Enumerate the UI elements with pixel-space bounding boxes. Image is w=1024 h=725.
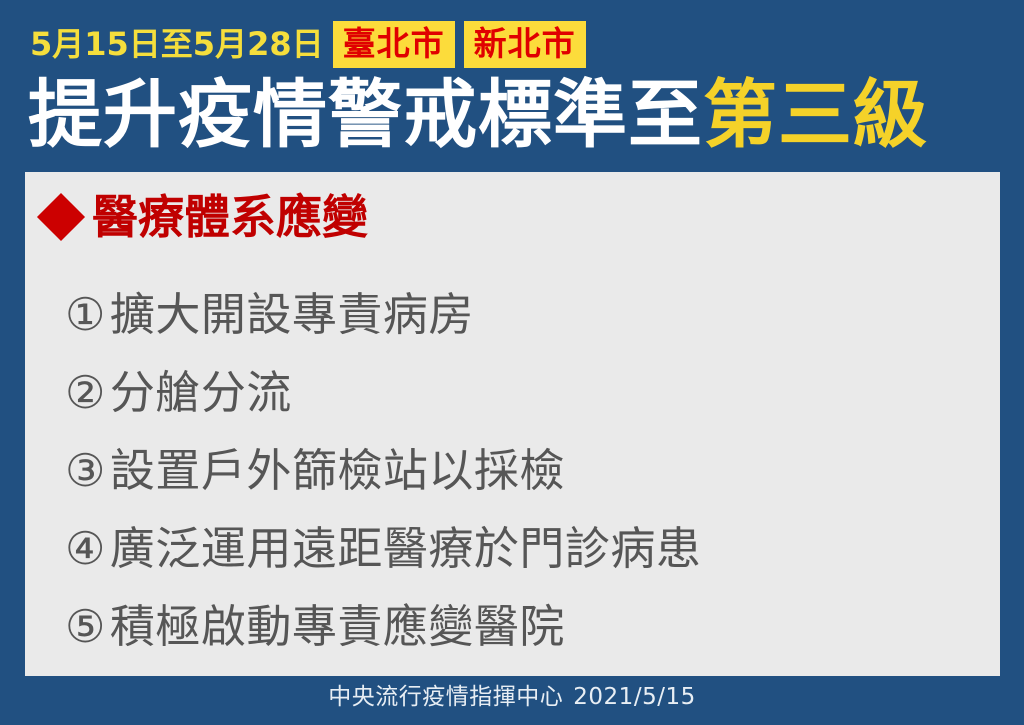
- poster-root: 5月15日至5月28日 臺北市 新北市 提升疫情警戒標準至第三級 醫療體系應變 …: [0, 0, 1024, 725]
- footer-source: 中央流行疫情指揮中心: [328, 684, 563, 710]
- measure-list: ① 擴大開設專責病房 ② 分艙分流 ③ 設置戶外篩檢站以採檢 ④ 廣泛運用遠距醫…: [65, 276, 965, 666]
- list-item: ⑤ 積極啟動專責應變醫院: [65, 588, 965, 666]
- list-item-label: 積極啟動專責應變醫院: [110, 588, 565, 666]
- page-title: 提升疫情警戒標準至第三級: [28, 72, 928, 158]
- list-item-marker: ④: [65, 510, 106, 588]
- footer-date: 2021/5/15: [573, 684, 695, 710]
- list-item-label: 廣泛運用遠距醫療於門診病患: [110, 510, 702, 588]
- list-item-marker: ①: [65, 276, 106, 354]
- list-item: ④ 廣泛運用遠距醫療於門診病患: [65, 510, 965, 588]
- list-item-marker: ③: [65, 432, 106, 510]
- city-badge-new-taipei: 新北市: [464, 21, 586, 68]
- list-item-marker: ②: [65, 354, 106, 432]
- list-item: ③ 設置戶外篩檢站以採檢: [65, 432, 965, 510]
- footer: 中央流行疫情指揮中心2021/5/15: [0, 682, 1024, 712]
- content-panel: 醫療體系應變 ① 擴大開設專責病房 ② 分艙分流 ③ 設置戶外篩檢站以採檢 ④ …: [25, 172, 1000, 676]
- list-item-label: 分艙分流: [110, 354, 292, 432]
- list-item: ② 分艙分流: [65, 354, 965, 432]
- list-item-marker: ⑤: [65, 588, 106, 666]
- city-badge-taipei: 臺北市: [333, 21, 455, 68]
- list-item: ① 擴大開設專責病房: [65, 276, 965, 354]
- diamond-icon: [37, 193, 85, 241]
- header-row: 5月15日至5月28日 臺北市 新北市: [30, 18, 586, 70]
- date-range-label: 5月15日至5月28日: [30, 18, 324, 70]
- list-item-label: 擴大開設專責病房: [110, 276, 474, 354]
- section-heading-label: 醫療體系應變: [92, 190, 368, 244]
- section-heading: 醫療體系應變: [42, 190, 368, 244]
- page-title-main: 提升疫情警戒標準至: [28, 72, 703, 158]
- list-item-label: 設置戶外篩檢站以採檢: [110, 432, 565, 510]
- page-title-highlight: 第三級: [703, 72, 928, 158]
